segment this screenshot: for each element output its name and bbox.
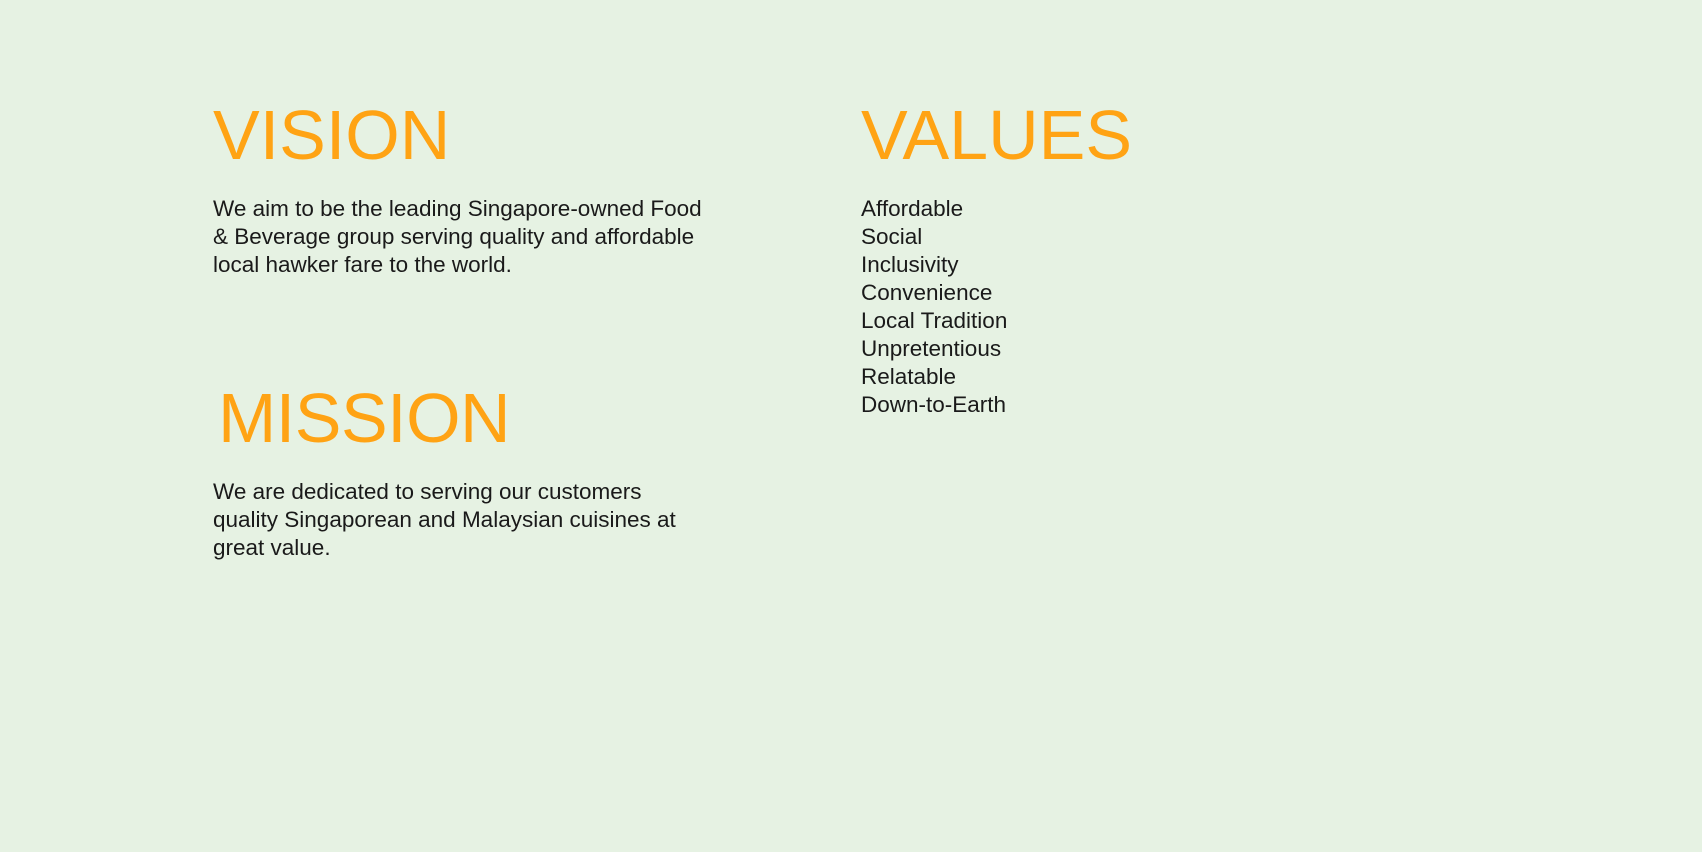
mission-heading: MISSION <box>218 383 676 453</box>
list-item: Down-to-Earth <box>861 391 1132 419</box>
list-item: Relatable <box>861 363 1132 391</box>
brand-dna-watermark: BRAND DNA <box>940 470 1702 852</box>
values-list: Affordable Social Inclusivity Convenienc… <box>861 195 1132 419</box>
list-item: Social <box>861 223 1132 251</box>
mission-section: MISSION We are dedicated to serving our … <box>218 383 676 562</box>
mission-body: We are dedicated to serving our customer… <box>213 478 676 562</box>
list-item: Local Tradition <box>861 307 1132 335</box>
vision-section: VISION We aim to be the leading Singapor… <box>213 100 702 279</box>
list-item: Convenience <box>861 279 1132 307</box>
list-item: Affordable <box>861 195 1132 223</box>
values-section: VALUES Affordable Social Inclusivity Con… <box>861 100 1132 419</box>
list-item: Inclusivity <box>861 251 1132 279</box>
brand-dna-slide: BRAND DNA VISION We aim to be the leadin… <box>0 0 1702 852</box>
vision-body: We aim to be the leading Singapore-owned… <box>213 195 702 279</box>
values-heading: VALUES <box>861 100 1132 170</box>
list-item: Unpretentious <box>861 335 1132 363</box>
vision-heading: VISION <box>213 100 702 170</box>
